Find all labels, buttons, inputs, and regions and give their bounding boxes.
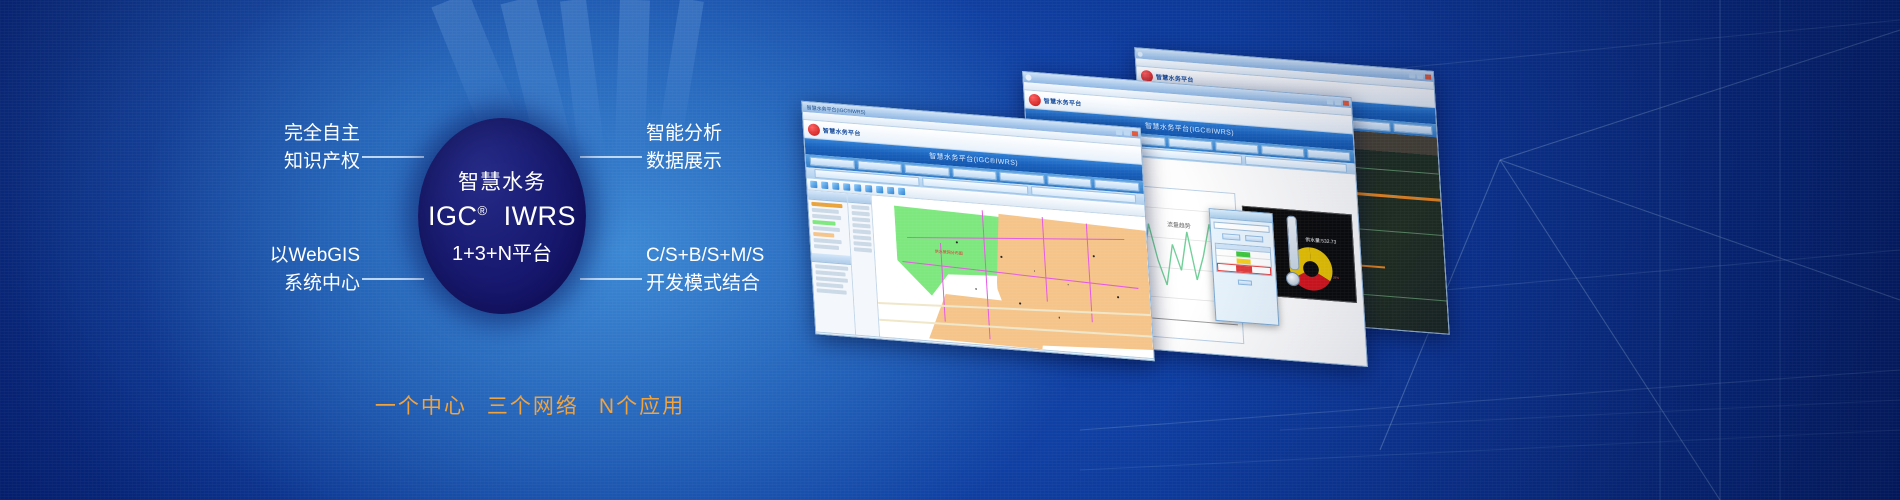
- ellipse-code: IGC® IWRS: [428, 202, 576, 232]
- tree-item[interactable]: [812, 220, 836, 226]
- identify-icon[interactable]: [887, 187, 894, 195]
- tree-item[interactable]: [813, 232, 835, 238]
- nav-item[interactable]: [1352, 120, 1391, 132]
- panel-header: [808, 190, 847, 202]
- maximize-icon[interactable]: [1124, 130, 1130, 136]
- tool-item[interactable]: [853, 235, 872, 240]
- tool-item[interactable]: [854, 247, 873, 252]
- pan-icon[interactable]: [854, 184, 861, 192]
- feature-line1: C/S+B/S+M/S: [646, 242, 764, 270]
- tool-item[interactable]: [853, 229, 872, 234]
- node-marker: [975, 288, 977, 290]
- open-icon[interactable]: [810, 181, 817, 189]
- tool-item[interactable]: [852, 217, 871, 222]
- node-marker: [1000, 256, 1002, 258]
- close-icon[interactable]: [1343, 100, 1349, 106]
- tool-item[interactable]: [853, 241, 872, 246]
- ellipse-title: 智慧水务: [458, 166, 546, 196]
- dialog-ok-button[interactable]: [1238, 280, 1252, 286]
- feature-bottom-left: 以WebGIS 系统中心: [250, 242, 360, 297]
- panel-header: [848, 194, 872, 205]
- zoom-in-icon[interactable]: [832, 182, 839, 190]
- select-icon[interactable]: [865, 185, 872, 193]
- status-normal: [1236, 251, 1250, 257]
- node-marker: [1117, 296, 1119, 298]
- status-alarm: [1236, 265, 1252, 272]
- node-marker: [1093, 255, 1095, 257]
- feature-line2: 数据展示: [646, 148, 722, 176]
- pipe-grading-dialog[interactable]: [1209, 208, 1280, 326]
- save-icon[interactable]: [821, 181, 828, 189]
- reset-button[interactable]: [1245, 235, 1263, 242]
- leader-line-bottom-right: [580, 278, 642, 280]
- close-icon[interactable]: [1132, 131, 1138, 137]
- window-gis-main[interactable]: 智慧水务平台(IGC®IWRS) 智慧水务平台 智慧水务平台(IGC®IWRS): [801, 101, 1155, 361]
- minimize-icon[interactable]: [1409, 73, 1415, 79]
- brand-label: 智慧水务平台: [823, 125, 861, 137]
- feature-line1: 智能分析: [646, 120, 722, 148]
- platform-diagram: 智慧水务 IGC® IWRS 1+3+N平台 完全自主 知识产权 智能分析 数据…: [250, 100, 810, 390]
- ellipse-subtitle: 1+3+N平台: [452, 237, 552, 266]
- tool-item[interactable]: [851, 205, 870, 210]
- minimize-icon[interactable]: [1327, 99, 1333, 105]
- banner-hero: 智慧水务平台 智慧水务平台(IGC®IWRS): [0, 0, 1900, 500]
- company-logo-icon: [1028, 93, 1041, 106]
- maximize-icon[interactable]: [1417, 73, 1423, 79]
- feature-line1: 以WebGIS: [250, 242, 360, 270]
- tagline-part1: 一个中心: [375, 395, 467, 418]
- node-marker: [956, 241, 958, 243]
- center-ellipse: 智慧水务 IGC® IWRS 1+3+N平台: [418, 118, 586, 314]
- leader-line-top-right: [580, 156, 642, 158]
- status-table: [1215, 243, 1273, 277]
- leader-line-bottom-left: [362, 278, 424, 280]
- attr-row: [817, 288, 847, 294]
- code-iwrs: IWRS: [504, 201, 577, 231]
- attr-row: [816, 282, 843, 288]
- feature-bottom-right: C/S+B/S+M/S 开发模式结合: [646, 242, 764, 297]
- feature-line2: 系统中心: [250, 270, 360, 298]
- minimize-icon[interactable]: [1116, 129, 1122, 135]
- feature-line2: 知识产权: [250, 148, 360, 176]
- feature-line2: 开发模式结合: [646, 270, 764, 298]
- status-warning: [1236, 258, 1250, 264]
- tool-item[interactable]: [852, 223, 871, 228]
- registered-mark: ®: [477, 203, 487, 218]
- tree-item[interactable]: [813, 226, 840, 232]
- feature-top-left: 完全自主 知识产权: [250, 120, 360, 175]
- tagline-part3: N个应用: [599, 395, 685, 418]
- gis-map-canvas[interactable]: 供水管网分布图: [872, 195, 1154, 358]
- nav-item[interactable]: [1393, 123, 1432, 135]
- node-marker: [1020, 303, 1022, 305]
- tool-item[interactable]: [852, 211, 871, 216]
- maximize-icon[interactable]: [1335, 99, 1341, 105]
- brand-label: 智慧水务平台: [1043, 96, 1081, 108]
- print-icon[interactable]: [898, 188, 905, 196]
- code-igc: IGC: [428, 201, 478, 231]
- query-button[interactable]: [1222, 233, 1240, 240]
- svg-text:28%: 28%: [1333, 276, 1340, 281]
- zoom-out-icon[interactable]: [843, 183, 850, 191]
- gis-body: 供水管网分布图: [808, 190, 1154, 358]
- feature-top-right: 智能分析 数据展示: [646, 120, 722, 175]
- close-icon[interactable]: [1425, 74, 1431, 80]
- tree-item[interactable]: [814, 238, 842, 244]
- measure-icon[interactable]: [876, 186, 883, 194]
- tagline: 一个中心三个网络N个应用: [250, 390, 810, 420]
- tree-item[interactable]: [812, 208, 839, 214]
- dialog-input[interactable]: [1213, 221, 1269, 232]
- panel-header-attributes: [811, 253, 850, 265]
- leader-line-top-left: [362, 156, 424, 158]
- tagline-part2: 三个网络: [487, 395, 579, 418]
- tree-item[interactable]: [814, 244, 839, 250]
- feature-line1: 完全自主: [250, 120, 360, 148]
